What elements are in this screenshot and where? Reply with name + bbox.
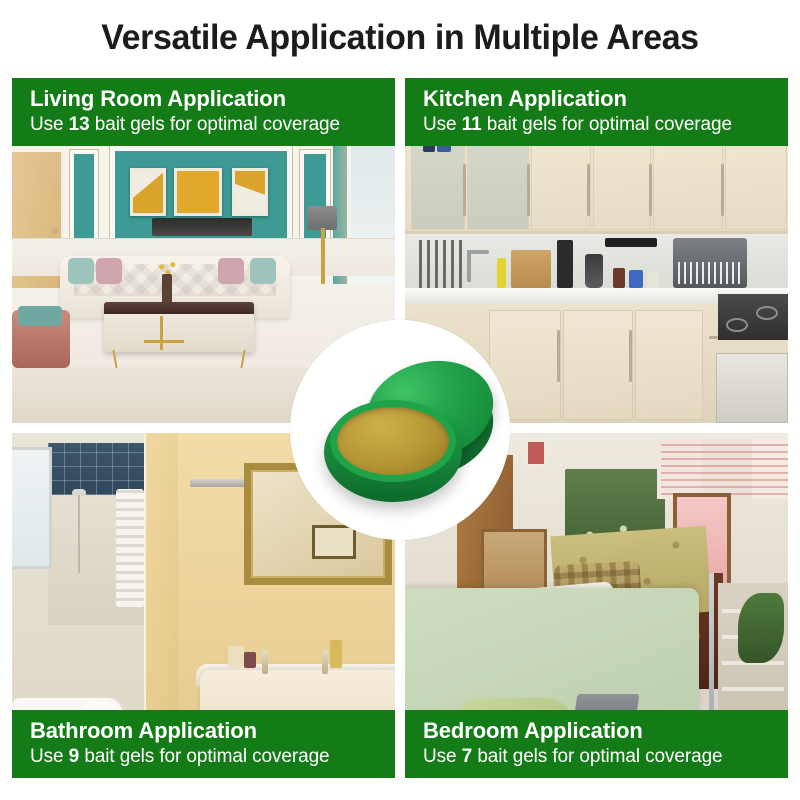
- kitchen-title: Kitchen Application: [423, 85, 788, 112]
- living-room-title: Living Room Application: [30, 85, 395, 112]
- bedroom-title: Bedroom Application: [423, 717, 788, 744]
- kitchen-subtitle: Use 11 bait gels for optimal coverage: [423, 112, 788, 137]
- infographic-page: Versatile Application in Multiple Areas: [0, 0, 800, 800]
- bathroom-band: Bathroom Application Use 9 bait gels for…: [12, 710, 395, 778]
- bait-gel-product-image: [290, 320, 510, 540]
- kitchen-count: 11: [462, 114, 482, 135]
- bathroom-sub-prefix: Use: [30, 746, 69, 767]
- living-room-band: Living Room Application Use 13 bait gels…: [12, 78, 395, 146]
- living-room-sub-suffix: bait gels for optimal coverage: [90, 114, 340, 135]
- product-badge: [290, 320, 510, 540]
- bathroom-count: 9: [69, 746, 79, 767]
- living-room-subtitle: Use 13 bait gels for optimal coverage: [30, 112, 395, 137]
- bedroom-sub-prefix: Use: [423, 746, 462, 767]
- page-title: Versatile Application in Multiple Areas: [12, 16, 788, 60]
- living-room-sub-prefix: Use: [30, 114, 69, 135]
- bedroom-count: 7: [462, 746, 472, 767]
- kitchen-sub-prefix: Use: [423, 114, 462, 135]
- bedroom-sub-suffix: bait gels for optimal coverage: [472, 746, 722, 767]
- bathroom-title: Bathroom Application: [30, 717, 395, 744]
- bathroom-sub-suffix: bait gels for optimal coverage: [79, 746, 329, 767]
- living-room-count: 13: [69, 114, 90, 135]
- bathroom-subtitle: Use 9 bait gels for optimal coverage: [30, 744, 395, 769]
- bedroom-band: Bedroom Application Use 7 bait gels for …: [405, 710, 788, 778]
- kitchen-sub-suffix: bait gels for optimal coverage: [482, 114, 732, 135]
- kitchen-band: Kitchen Application Use 11 bait gels for…: [405, 78, 788, 146]
- bedroom-subtitle: Use 7 bait gels for optimal coverage: [423, 744, 788, 769]
